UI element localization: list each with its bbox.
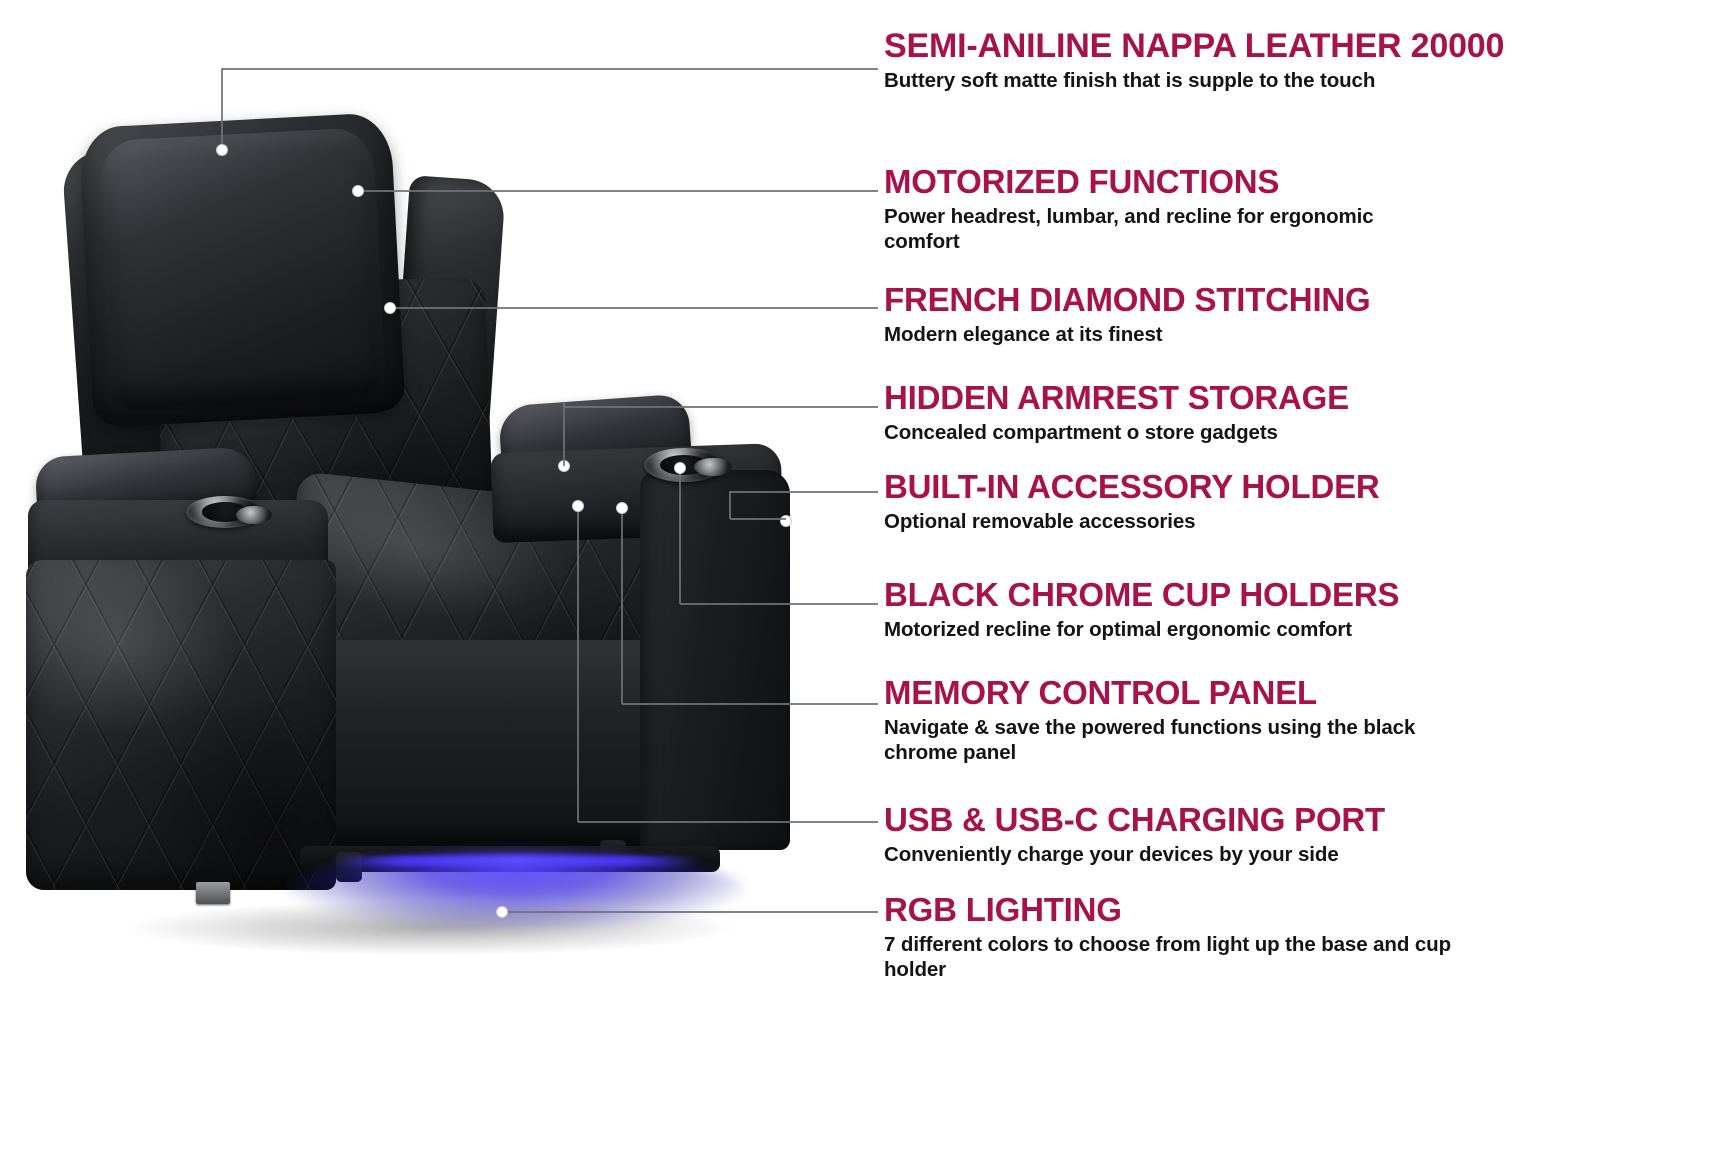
feature-built-in-accessory-holder: BUILT-IN ACCESSORY HOLDER Optional remov… <box>884 470 1524 534</box>
headrest-cushion <box>97 127 387 413</box>
feature-desc-usb-and-usb-c-charging-port: Conveniently charge your devices by your… <box>884 842 1524 867</box>
left-armrest-side-panel <box>26 560 336 890</box>
feature-title-semi-aniline-nappa-leather: SEMI-ANILINE NAPPA LEATHER 20000 <box>884 28 1524 64</box>
feature-memory-control-panel: MEMORY CONTROL PANEL Navigate & save the… <box>884 676 1524 766</box>
feature-title-rgb-lighting: RGB LIGHTING <box>884 893 1524 928</box>
feature-desc-hidden-armrest-storage: Concealed compartment o store gadgets <box>884 420 1524 445</box>
feature-french-diamond-stitching: FRENCH DIAMOND STITCHING Modern elegance… <box>884 283 1524 347</box>
feature-semi-aniline-nappa-leather: SEMI-ANILINE NAPPA LEATHER 20000 Buttery… <box>884 28 1524 93</box>
feature-desc-black-chrome-cup-holders: Motorized recline for optimal ergonomic … <box>884 617 1524 642</box>
feature-title-black-chrome-cup-holders: BLACK CHROME CUP HOLDERS <box>884 578 1524 613</box>
feature-title-motorized-functions: MOTORIZED FUNCTIONS <box>884 165 1524 200</box>
feature-desc-motorized-functions: Power headrest, lumbar, and recline for … <box>884 204 1404 255</box>
rgb-base-lighting-strip <box>330 856 700 866</box>
feature-hidden-armrest-storage: HIDDEN ARMREST STORAGE Concealed compart… <box>884 381 1524 445</box>
seat-front-skirt <box>310 640 690 850</box>
feature-rgb-lighting: RGB LIGHTING 7 different colors to choos… <box>884 893 1524 983</box>
feature-black-chrome-cup-holders: BLACK CHROME CUP HOLDERS Motorized recli… <box>884 578 1524 642</box>
feature-list: SEMI-ANILINE NAPPA LEATHER 20000 Buttery… <box>884 0 1726 1151</box>
feature-title-built-in-accessory-holder: BUILT-IN ACCESSORY HOLDER <box>884 470 1524 505</box>
feature-desc-semi-aniline-nappa-leather: Buttery soft matte finish that is supple… <box>884 68 1524 93</box>
brand-badge <box>196 882 230 904</box>
feature-desc-built-in-accessory-holder: Optional removable accessories <box>884 509 1524 534</box>
usb-charging-port-left-icon <box>236 506 272 524</box>
feature-desc-rgb-lighting: 7 different colors to choose from light … <box>884 932 1484 983</box>
right-armrest-side-panel <box>640 470 790 850</box>
feature-desc-french-diamond-stitching: Modern elegance at its finest <box>884 322 1524 347</box>
feature-title-hidden-armrest-storage: HIDDEN ARMREST STORAGE <box>884 381 1524 416</box>
feature-title-french-diamond-stitching: FRENCH DIAMOND STITCHING <box>884 283 1524 318</box>
feature-title-memory-control-panel: MEMORY CONTROL PANEL <box>884 676 1524 711</box>
infographic-canvas: SEMI-ANILINE NAPPA LEATHER 20000 Buttery… <box>0 0 1726 1151</box>
feature-desc-memory-control-panel: Navigate & save the powered functions us… <box>884 715 1484 766</box>
feature-usb-and-usb-c-charging-port: USB & USB-C CHARGING PORT Conveniently c… <box>884 803 1524 867</box>
feature-motorized-functions: MOTORIZED FUNCTIONS Power headrest, lumb… <box>884 165 1524 255</box>
recliner-product-image <box>0 0 880 1151</box>
feature-title-usb-and-usb-c-charging-port: USB & USB-C CHARGING PORT <box>884 803 1524 838</box>
usb-charging-port-right-icon <box>694 458 732 476</box>
